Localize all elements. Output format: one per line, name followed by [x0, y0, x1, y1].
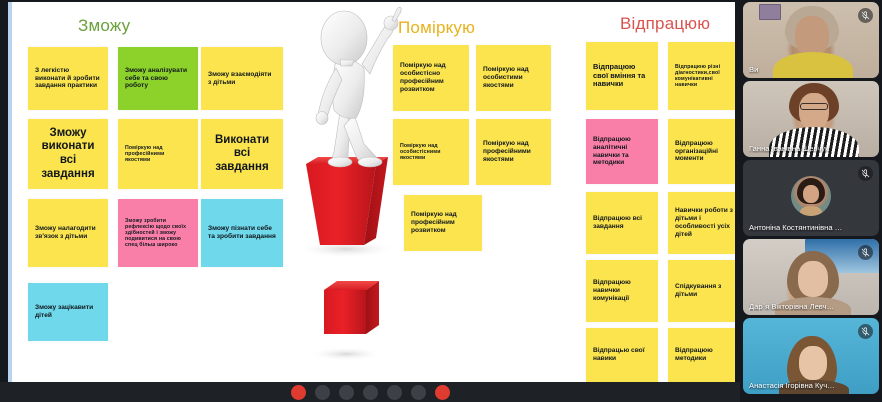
participant-tile[interactable]: Ганна Іванівна Шевчук — [743, 81, 879, 157]
call-control-toolbar[interactable] — [0, 382, 740, 402]
presentation-slide: Зможу Поміркую Відпрацюю — [8, 2, 735, 382]
mic-muted-icon — [858, 8, 873, 23]
mic-muted-icon — [858, 166, 873, 181]
sticky-note[interactable]: Відпрацюю навички комунікації — [586, 260, 658, 322]
participant-name: Дар`я Вікторівна Левч… — [749, 302, 863, 311]
sticky-note[interactable]: Поміркую над професійними якостями — [476, 119, 551, 185]
sticky-note[interactable]: Відпрацюю організаційні моменти — [668, 119, 735, 184]
sticky-note[interactable]: Зможу аналізувати себе та свою роботу — [118, 47, 198, 110]
sticky-note[interactable]: Зможу зробити рефлексію щодо своїх здібн… — [118, 199, 198, 267]
sticky-note[interactable]: Відпрацюю методики — [668, 328, 735, 382]
participant-tile[interactable]: Анастасія Ігорівна Куч… — [743, 318, 879, 394]
sticky-note[interactable]: Відпрацью свої навики — [586, 328, 658, 382]
sticky-note[interactable]: Поміркую над особистісно професійним роз… — [393, 45, 469, 111]
sticky-note[interactable]: Виконати всі завдання — [201, 119, 283, 189]
sticky-note[interactable]: Зможу виконати всі завдання — [28, 119, 108, 189]
mic-muted-icon — [858, 324, 873, 339]
participant-tile[interactable]: Ви — [743, 2, 879, 78]
sticky-note[interactable]: Відпрацюю аналітичні навички та методики — [586, 119, 658, 184]
participant-video-rail[interactable]: Ви Ганна Іванівна Шевчук Анто — [740, 0, 882, 402]
microphone-button[interactable] — [315, 385, 330, 400]
sticky-note[interactable]: Поміркую над професійним розвитком — [404, 195, 482, 251]
sticky-note[interactable]: Відпрацюю всі завдання — [586, 192, 658, 254]
column-heading-vidpratsyuyu: Відпрацюю — [620, 14, 710, 34]
slide-left-edge — [8, 2, 12, 382]
participant-name: Антоніна Костянтинівна … — [749, 223, 863, 232]
participant-name: Ви — [749, 65, 863, 74]
sticky-note[interactable]: Відпрацюю різні діагностики,свої комунік… — [668, 42, 735, 110]
participant-name: Ганна Іванівна Шевчук — [749, 144, 863, 153]
mic-muted-icon — [858, 245, 873, 260]
sticky-note[interactable]: Відпрацюю свої вміння та навички — [586, 42, 658, 110]
participant-tile[interactable]: Антоніна Костянтинівна … — [743, 160, 879, 236]
sticky-note[interactable]: З легкістю виконати й зробити завдання п… — [28, 47, 108, 110]
sticky-note[interactable]: Поміркую над особистими якостями — [476, 45, 551, 111]
sticky-note[interactable]: Поміркую над особистісними якостями — [393, 119, 469, 185]
sticky-note[interactable]: Спідкування з дітьми — [668, 260, 735, 322]
participant-name: Анастасія Ігорівна Куч… — [749, 381, 863, 390]
camera-button[interactable] — [339, 385, 354, 400]
sticky-note[interactable]: Зможу зацікавити дітей — [28, 283, 108, 341]
sticky-note[interactable]: Навички роботи з дітьми і особливості ус… — [668, 192, 735, 254]
video-call-window: Зможу Поміркую Відпрацюю — [0, 0, 882, 402]
share-screen-button[interactable] — [363, 385, 378, 400]
sticky-note[interactable]: Зможу взаємодіяти з дітьми — [201, 47, 283, 110]
participants-button[interactable] — [387, 385, 402, 400]
leave-button[interactable] — [435, 385, 450, 400]
end-call-button[interactable] — [291, 385, 306, 400]
column-heading-zmozhu: Зможу — [78, 16, 130, 36]
sticky-note[interactable]: Зможу налагодити зв'язок з дітьми — [28, 199, 108, 267]
chat-button[interactable] — [411, 385, 426, 400]
shared-screen-area[interactable]: Зможу Поміркую Відпрацюю — [0, 0, 740, 402]
sticky-note[interactable]: Зможу пізнати себе та зробити завдання — [201, 199, 283, 267]
participant-tile[interactable]: Дар`я Вікторівна Левч… — [743, 239, 879, 315]
avatar — [791, 176, 831, 216]
sticky-note[interactable]: Поміркую над професійними якостями — [118, 119, 198, 189]
